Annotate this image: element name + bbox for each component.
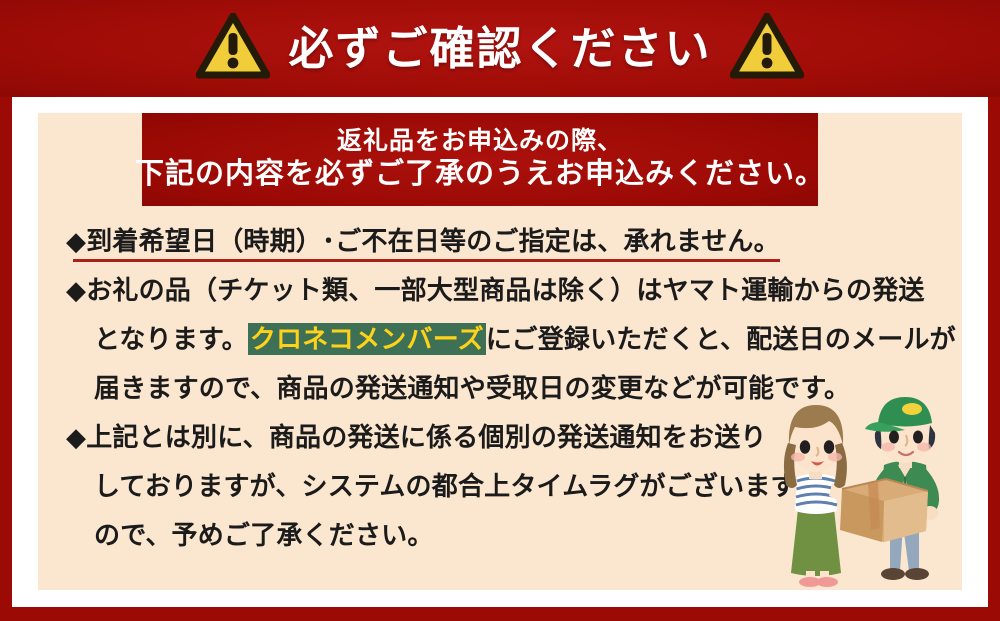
delivery-handoff-illustration bbox=[772, 385, 962, 590]
note-2-line-1: お礼の品（チケット類、一部大型商品は除く）はヤマト運輸からの発送 bbox=[86, 275, 924, 305]
note-item-2: ◆お礼の品（チケット類、一部大型商品は除く）はヤマト運輸からの発送 bbox=[66, 266, 946, 315]
note-3-line-1: 上記とは別に、商品の発送に係る個別の発送通知をお送り bbox=[86, 422, 766, 452]
header-band: 必ずご確認ください bbox=[0, 0, 1000, 97]
note-2-marker: ◆ bbox=[66, 275, 86, 305]
note-2-line-2: となります。クロネコメンバーズにご登録いただくと、配送日のメールが bbox=[66, 315, 946, 364]
page-title: 必ずご確認ください bbox=[288, 26, 711, 71]
sub-banner: 返礼品をお申込みの際、 下記の内容を必ずご了承のうえお申込みください。 bbox=[142, 113, 818, 206]
sub-banner-line-2: 下記の内容を必ずご了承のうえお申込みください。 bbox=[135, 158, 825, 191]
kuroneko-members-highlight[interactable]: クロネコメンバーズ bbox=[248, 323, 486, 355]
warning-triangle-icon bbox=[730, 13, 804, 84]
note-3-marker: ◆ bbox=[66, 422, 86, 452]
frame-border-bottom bbox=[0, 607, 1000, 621]
notice-banner-page: 必ずご確認ください 返礼品をお申込みの際、 下記の内容を必ずご了承のうえお申込み… bbox=[0, 0, 1000, 621]
note-2-line-2-before: となります。 bbox=[94, 324, 248, 354]
note-1-underlined: ◆到着希望日（時期）･ご不在日等のご指定は、承れません。 bbox=[66, 217, 780, 266]
warning-triangle-icon bbox=[196, 13, 270, 84]
note-2-line-2-after: にご登録いただくと、配送日のメールが bbox=[486, 324, 956, 354]
note-1-marker: ◆ bbox=[66, 226, 86, 256]
content-panel: 返礼品をお申込みの際、 下記の内容を必ずご了承のうえお申込みください。 ◆到着希… bbox=[38, 113, 962, 590]
note-item-1: ◆到着希望日（時期）･ご不在日等のご指定は、承れません。 bbox=[66, 217, 946, 266]
sub-banner-line-1: 返礼品をお申込みの際、 bbox=[337, 127, 623, 156]
note-1-text: 到着希望日（時期）･ご不在日等のご指定は、承れません。 bbox=[86, 226, 780, 256]
